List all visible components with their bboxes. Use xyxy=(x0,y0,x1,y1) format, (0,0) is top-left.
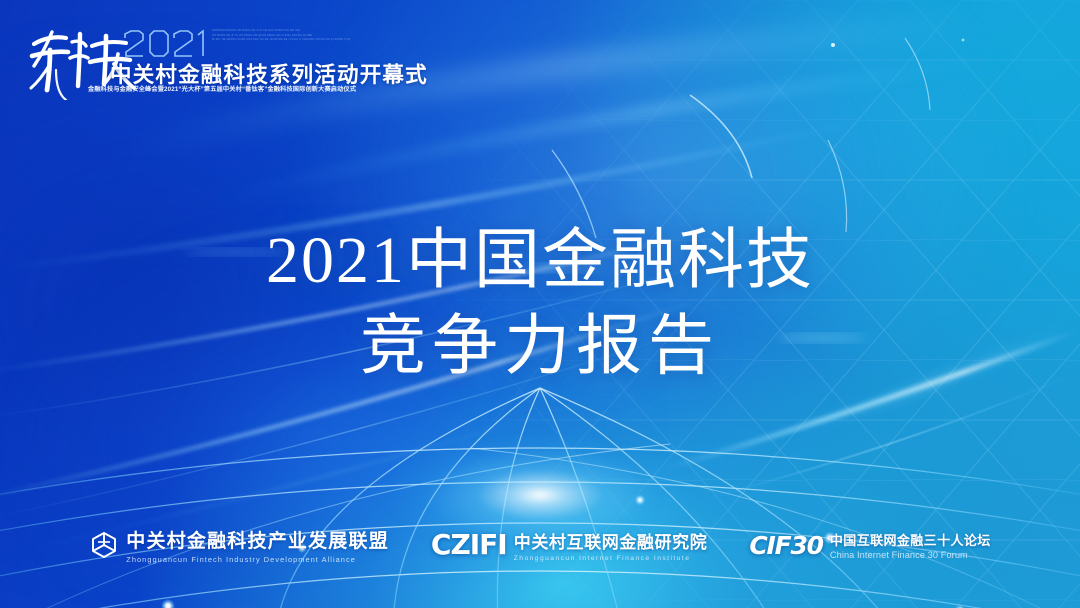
logo-cif30-forum: CIF30 中国互联网金融三十人论坛 China Internet Financ… xyxy=(749,530,990,560)
poster-main-title: 2021中国金融科技 竞争力报告 xyxy=(0,218,1080,390)
logo-en-text: Zhongguancun Internet Finance Institute xyxy=(514,555,708,562)
isometric-cube-icon xyxy=(89,530,119,560)
czifi-wordmark-icon: CZIFI xyxy=(431,531,507,559)
year-2021-outline-icon xyxy=(122,26,208,62)
poster-canvas: ZHONGGUANCUN JIN RONG KE JI XI LIE HUO D… xyxy=(0,0,1080,608)
title-line-1: 2021中国金融科技 xyxy=(0,218,1080,304)
header-micro-pinyin: ZHONGGUANCUN JIN RONG KE JI XI LIE HUO D… xyxy=(212,29,350,43)
title-line-2: 竞争力报告 xyxy=(0,304,1080,390)
logo-en-text: China Internet Finance 30 Forum xyxy=(830,550,991,560)
event-header-logo: ZHONGGUANCUN JIN RONG KE JI XI LIE HUO D… xyxy=(22,22,352,104)
logo-cn-text: 中关村互联网金融研究院 xyxy=(514,528,708,553)
logo-czifi-institute: CZIFI 中关村互联网金融研究院 Zhongguancun Internet … xyxy=(431,528,707,562)
cif30-wordmark-icon: CIF30 xyxy=(749,533,823,558)
header-event-subtitle: 金融科技与金融安全峰会暨2021“光大杯”第五届中关村“番钛客”金融科技国际创新… xyxy=(88,84,356,93)
logo-cn-text: 中关村金融科技产业发展联盟 xyxy=(126,526,389,553)
logo-zgc-fintech-alliance: 中关村金融科技产业发展联盟 Zhongguancun Fintech Indus… xyxy=(89,526,389,564)
logo-cn-text: 中国互联网金融三十人论坛 xyxy=(830,530,991,549)
logo-en-text: Zhongguancun Fintech Industry Developmen… xyxy=(126,555,389,564)
footer-logo-row: 中关村金融科技产业发展联盟 Zhongguancun Fintech Indus… xyxy=(0,519,1080,571)
